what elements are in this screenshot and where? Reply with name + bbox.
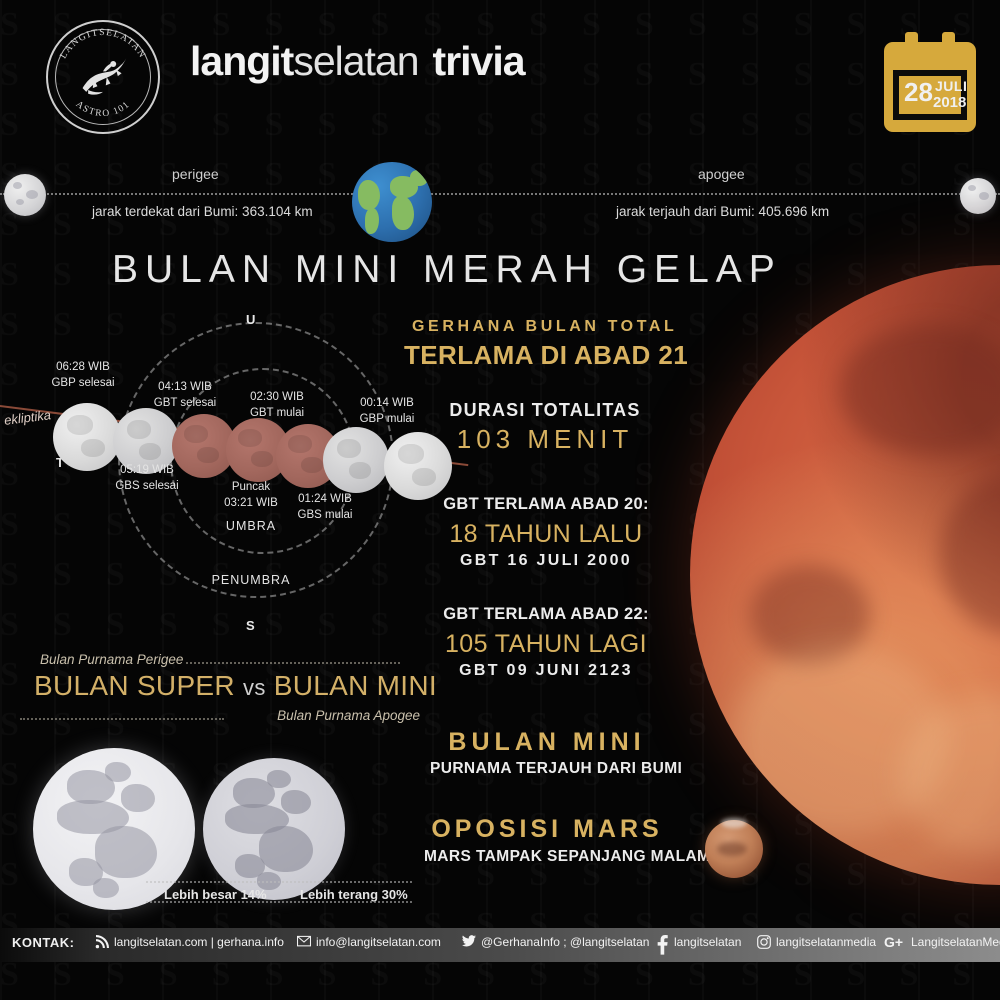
axis-label-north: U — [246, 312, 255, 327]
phase-moon-gbs-mulai — [323, 427, 389, 493]
facebook-icon — [655, 935, 669, 949]
heading-dotted-line-bottom — [20, 718, 224, 720]
abad22-label: GBT TERLAMA ABAD 22: — [432, 605, 660, 624]
orbit-diagram: perigee jarak terdekat dari Bumi: 363.10… — [0, 152, 1000, 257]
eclipse-event-5-name: GBP mulai — [332, 412, 442, 428]
eclipse-event-0-time: 06:28 WIB — [28, 360, 138, 376]
googleplus-icon: G+ — [884, 935, 906, 949]
duration-label: DURASI TOTALITAS — [435, 400, 655, 421]
heading-dotted-line-top — [186, 662, 400, 664]
footer-item-website-text: langitselatan.com | gerhana.info — [114, 935, 284, 949]
moon-icon-perigee — [4, 174, 46, 216]
comparison-title-left: BULAN SUPER — [34, 670, 235, 701]
penumbra-label: PENUMBRA — [186, 572, 316, 589]
calendar-day: 28 — [904, 79, 933, 105]
apogee-label: apogee — [698, 166, 745, 182]
eclipse-event-1-time: 05:19 WIB — [92, 463, 202, 479]
abad22-value: 105 TAHUN LAGI — [432, 630, 660, 659]
stat-size-label: Lebih besar 14% — [164, 887, 267, 902]
caption-apogee: Bulan Purnama Apogee — [277, 708, 420, 723]
calendar-screen: 28 JULI 2018 — [893, 70, 967, 120]
eclipse-event-1-name: GBS selesai — [92, 479, 202, 495]
mars-dark-region — [717, 842, 747, 856]
rss-icon — [95, 935, 109, 949]
footer-item-googleplus[interactable]: G+ LangitselatanMedia — [884, 935, 1000, 949]
comparison-dotted-line-bottom — [146, 901, 412, 903]
bulan-mini-sub: PURNAMA TERJAUH DARI BUMI — [430, 760, 664, 778]
headline-small: GERHANA BULAN TOTAL — [412, 318, 672, 336]
eclipse-event-3-name: GBT mulai — [222, 406, 332, 422]
twitter-icon — [462, 935, 476, 949]
eclipse-event-3-time: 02:30 WIB — [222, 390, 332, 406]
footer-item-instagram[interactable]: langitselatanmedia — [757, 935, 876, 949]
instagram-icon — [757, 935, 771, 949]
brand-light: selatan — [293, 38, 418, 84]
orbit-dotted-line — [0, 193, 1000, 195]
caption-perigee: Bulan Purnama Perigee — [40, 652, 183, 667]
umbra-label: UMBRA — [196, 518, 306, 535]
footer-contact-bar: KONTAK: langitselatan.com | gerhana.info… — [0, 928, 1000, 962]
comparison-title-vs: vs — [243, 675, 266, 700]
eclipse-peak: Puncak 03:21 WIB — [196, 480, 306, 511]
footer-item-website[interactable]: langitselatan.com | gerhana.info — [95, 935, 284, 949]
calendar-month: JULI — [935, 78, 967, 94]
phase-moon-gbp-selesai — [53, 403, 121, 471]
headline-big: TERLAMA DI ABAD 21 — [404, 340, 680, 371]
comparison-dotted-line-top — [146, 881, 412, 883]
moon-icon-apogee — [960, 178, 996, 214]
duration-value: 103 MENIT — [435, 424, 655, 455]
oposisi-mars-label: OPOSISI MARS — [424, 815, 670, 844]
supermoon-circle — [33, 748, 195, 910]
brand-bold: langit — [190, 38, 293, 84]
mars-polar-cap — [721, 818, 747, 828]
supermoon-vs-minimoon-heading: Bulan Purnama Perigee BULAN SUPER vs BUL… — [20, 652, 420, 732]
abad20-date: GBT 16 JULI 2000 — [432, 552, 660, 570]
brand-suffix: trivia — [433, 38, 525, 84]
calendar-body: 28 JULI 2018 — [884, 42, 976, 132]
page-title: BULAN MINI MERAH GELAP — [112, 248, 782, 292]
footer-item-email[interactable]: info@langitselatan.com — [297, 935, 441, 949]
footer-item-twitter[interactable]: @GerhanaInfo ; @langitselatan — [462, 935, 649, 949]
eclipse-event-5-time: 00:14 WIB — [332, 396, 442, 412]
eclipse-event-0: 06:28 WIB GBP selesai — [28, 360, 138, 391]
ecliptic-label: ekliptika — [3, 407, 51, 428]
calendar-icon: 28 JULI 2018 — [884, 32, 976, 132]
footer-item-instagram-text: langitselatanmedia — [776, 935, 876, 949]
calendar-year: 2018 — [933, 94, 966, 111]
eclipse-timeline-diagram: ekliptika U S T B — [0, 300, 470, 650]
eclipse-peak-time: 03:21 WIB — [196, 496, 306, 512]
perigee-distance: jarak terdekat dari Bumi: 363.104 km — [92, 204, 313, 219]
calendar-screen-inner: 28 JULI 2018 — [899, 76, 961, 114]
footer-item-facebook[interactable]: langitselatan — [655, 935, 741, 949]
footer-item-facebook-text: langitselatan — [674, 935, 741, 949]
abad22-date: GBT 09 JUNI 2123 — [432, 662, 660, 680]
axis-label-south: S — [246, 618, 255, 633]
comparison-title-right: BULAN MINI — [274, 670, 437, 701]
minimoon-circle — [203, 758, 345, 900]
comparison-title: BULAN SUPER vs BULAN MINI — [34, 670, 414, 702]
eclipse-event-0-name: GBP selesai — [28, 376, 138, 392]
footer-item-twitter-text: @GerhanaInfo ; @langitselatan — [481, 935, 649, 949]
bulan-mini-label: BULAN MINI — [430, 728, 664, 757]
horse-rider-icon — [75, 51, 131, 103]
stat-bright-label: Lebih terang 30% — [300, 887, 408, 902]
eclipse-peak-label: Puncak — [196, 480, 306, 496]
perigee-label: perigee — [172, 166, 219, 182]
footer-item-googleplus-text: LangitselatanMedia — [911, 935, 1000, 949]
abad20-value: 18 TAHUN LALU — [432, 520, 660, 549]
oposisi-mars-sub: MARS TAMPAK SEPANJANG MALAM — [424, 848, 670, 866]
infographic-canvas: SSSSSSSSSSSSSSSSSSSS SSSSSSSSSSSSSSSSSSS… — [0, 0, 1000, 1000]
mars-planet-image — [705, 820, 763, 878]
abad20-label: GBT TERLAMA ABAD 20: — [432, 495, 660, 514]
apogee-distance: jarak terjauh dari Bumi: 405.696 km — [616, 204, 829, 219]
langitselatan-logo[interactable]: LANGITSELATAN ASTRO 101 — [46, 20, 160, 134]
footer-item-email-text: info@langitselatan.com — [316, 935, 441, 949]
blood-moon-image — [690, 265, 1000, 885]
envelope-icon — [297, 935, 311, 949]
svg-text:G+: G+ — [884, 935, 903, 949]
header: LANGITSELATAN ASTRO 101 langitselatantri… — [0, 0, 1000, 150]
brand-title: langitselatantrivia — [190, 38, 525, 85]
kontak-label: KONTAK: — [12, 935, 74, 950]
eclipse-event-3: 02:30 WIB GBT mulai — [222, 390, 332, 421]
eclipse-event-5: 00:14 WIB GBP mulai — [332, 396, 442, 427]
eclipse-event-1: 05:19 WIB GBS selesai — [92, 463, 202, 494]
earth-globe-icon — [352, 162, 432, 242]
